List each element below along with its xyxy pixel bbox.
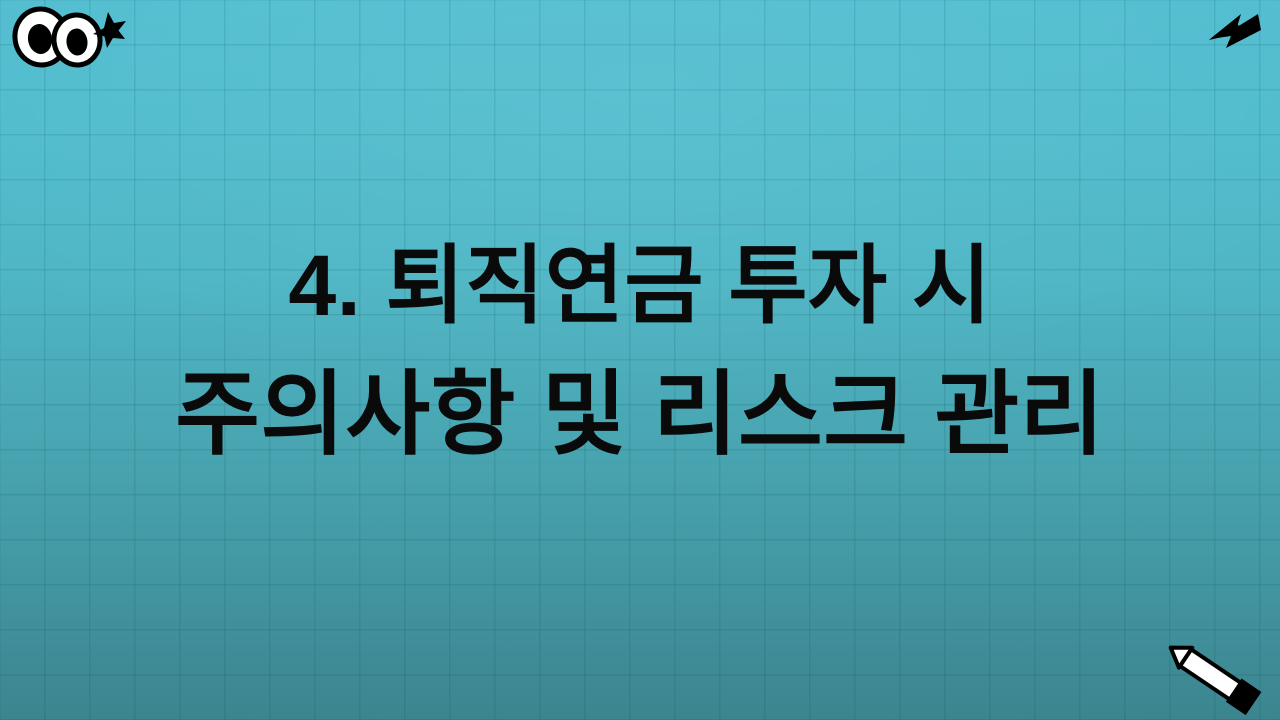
slide-canvas: 4. 퇴직연금 투자 시 주의사항 및 리스크 관리: [0, 0, 1280, 720]
title-line-2: 주의사항 및 리스크 관리: [40, 349, 1240, 482]
pencil-icon: [1160, 638, 1272, 716]
googly-eyes-logo: [8, 4, 126, 68]
page-title: 4. 퇴직연금 투자 시 주의사항 및 리스크 관리: [0, 224, 1280, 482]
arrow-down-left-icon: [1204, 6, 1266, 54]
title-line-1: 4. 퇴직연금 투자 시: [40, 224, 1240, 349]
eye-right: [52, 13, 103, 68]
